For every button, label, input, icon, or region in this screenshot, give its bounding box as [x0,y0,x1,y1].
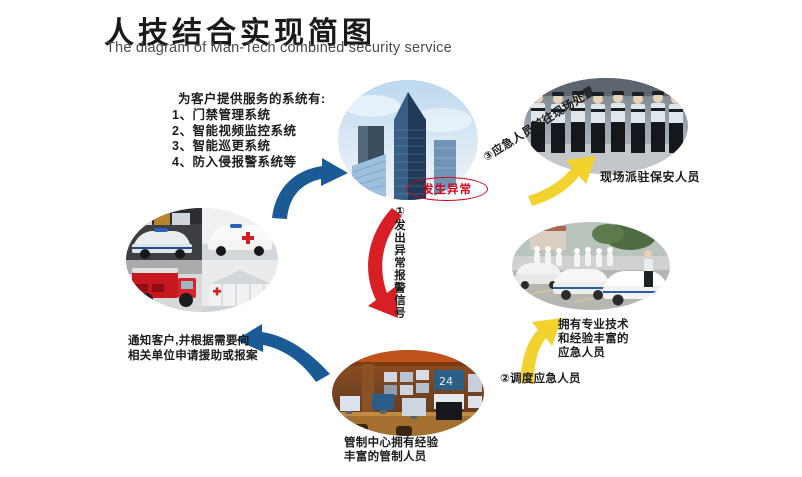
control-center-monitors-photo: 24 [332,350,484,436]
page-subtitle: The diagram of Man-Tech combined securit… [106,40,452,56]
caption-site-guards: 现场派驻保安人员 [600,168,700,185]
caption-responders: 拥有专业技术 和经验丰富的 应急人员 [558,318,629,360]
emergency-vehicles-collage-photo [126,208,278,312]
svg-text:24: 24 [439,375,453,388]
systems-list: 1、门禁管理系统 2、智能视频监控系统 3、智能巡更系统 4、防入侵报警系统等 [172,108,296,170]
caption-control-center: 管制中心拥有经验 丰富的管制人员 [344,436,438,464]
status-badge-abnormal: 发生异常 [406,177,488,201]
caption-notify-client: 通知客户,并根据需要向 相关单位申请援助或报案 [128,334,258,364]
step-2-label: ②调度应急人员 [500,370,581,386]
patrol-cars-and-responders-photo [512,222,670,310]
diagram-canvas: 人技结合实现简图 The diagram of Man-Tech combine… [0,0,802,477]
step-1-label: ①发出异常报警信号 [392,204,405,319]
systems-heading: 为客户提供服务的系统有: [178,88,326,107]
